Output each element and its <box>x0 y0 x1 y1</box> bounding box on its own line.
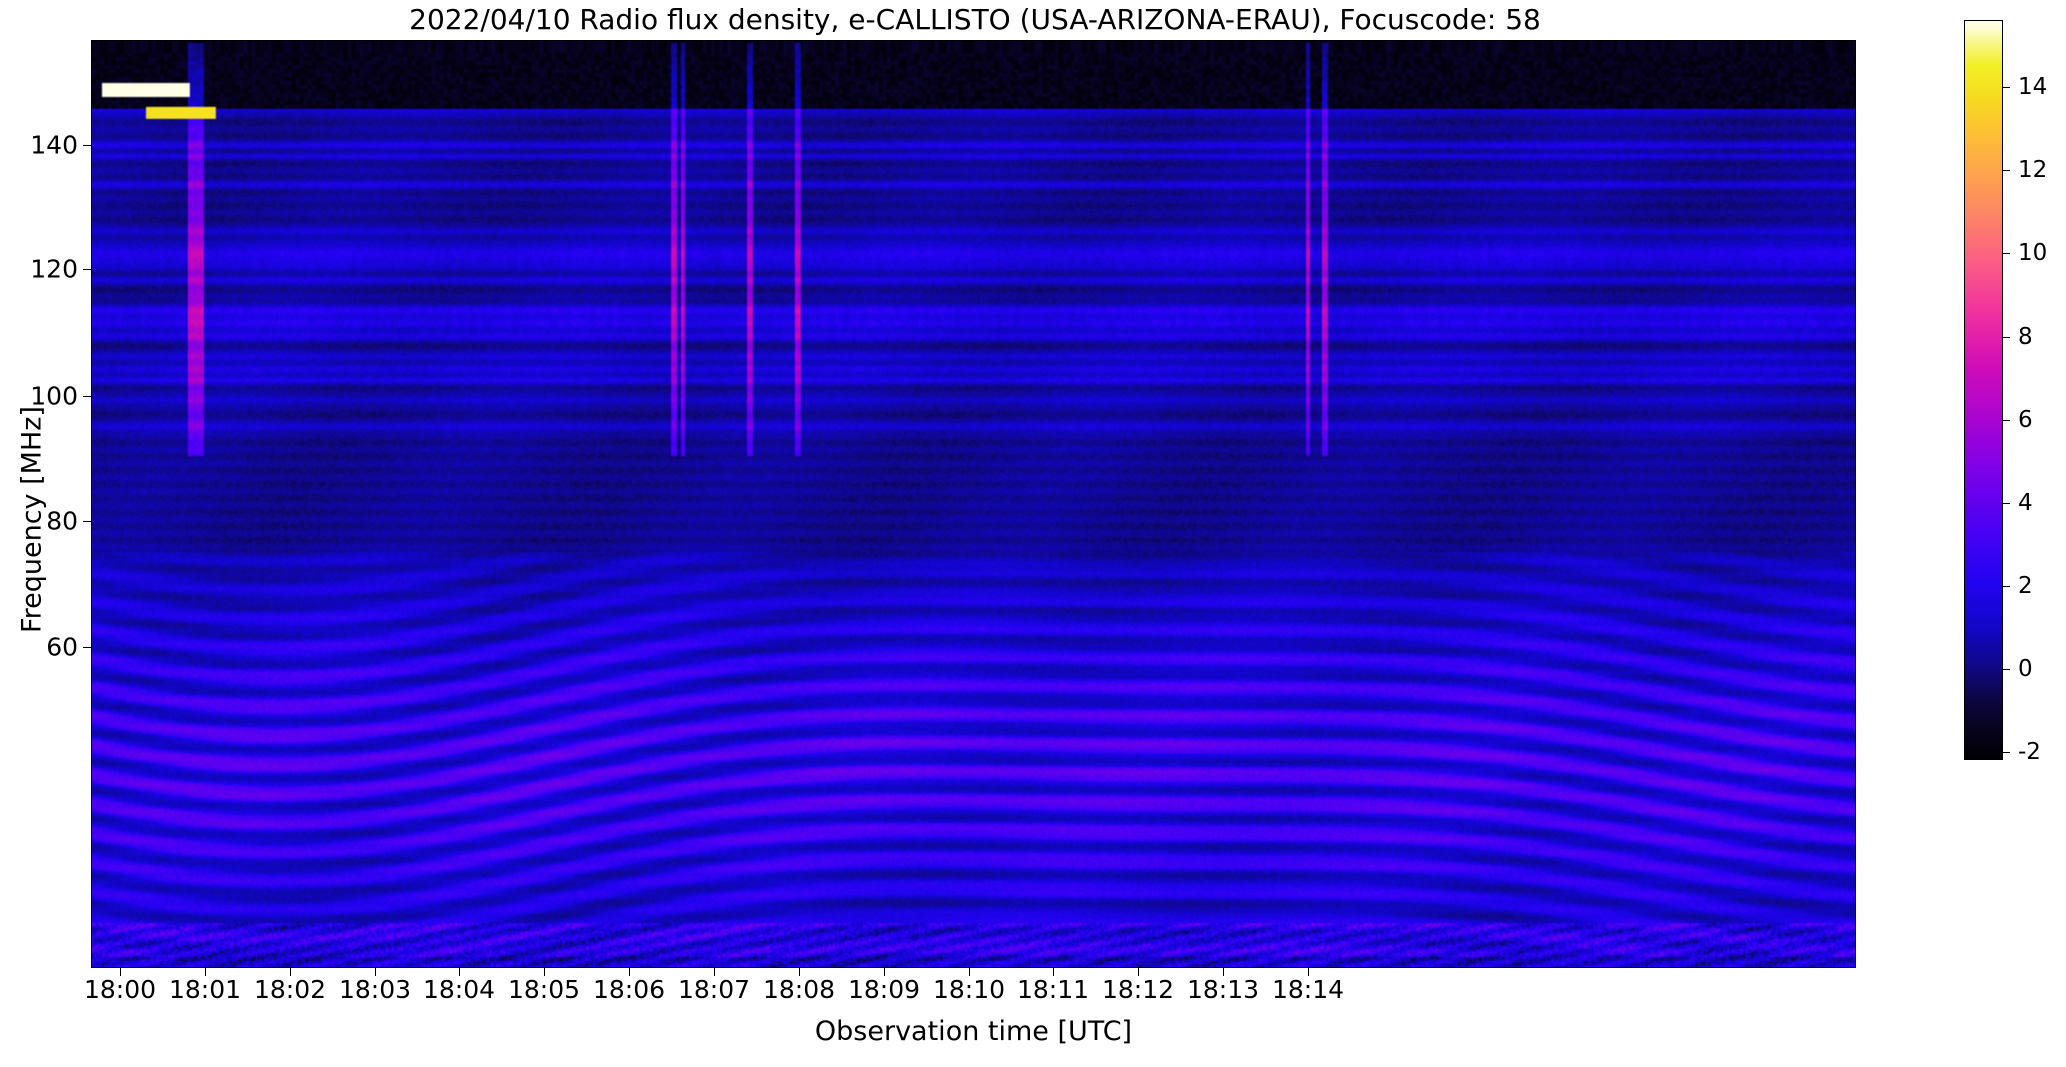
x-tick-label: 18:10 <box>933 975 1005 1004</box>
x-tick-label: 18:03 <box>339 975 411 1004</box>
x-tick-label: 18:05 <box>508 975 580 1004</box>
spectrogram-figure: 2022/04/10 Radio flux density, e-CALLIST… <box>0 0 2066 1067</box>
y-tick-mark <box>83 521 91 522</box>
colorbar-tick-mark <box>2003 253 2010 254</box>
page-title: 2022/04/10 Radio flux density, e-CALLIST… <box>0 3 1950 36</box>
colorbar-tick-label: 4 <box>2018 490 2033 516</box>
x-tick-mark <box>1053 968 1054 976</box>
colorbar-tick-label: -2 <box>2018 739 2041 765</box>
x-tick-label: 18:11 <box>1017 975 1089 1004</box>
x-tick-label: 18:09 <box>848 975 920 1004</box>
x-tick-label: 18:04 <box>423 975 495 1004</box>
colorbar-tick-mark <box>2003 503 2010 504</box>
colorbar-tick-mark <box>2003 752 2010 753</box>
x-tick-mark <box>459 968 460 976</box>
x-tick-mark <box>205 968 206 976</box>
y-tick-mark <box>83 647 91 648</box>
spectrogram-image <box>92 41 1855 967</box>
y-tick-label: 140 <box>20 131 78 160</box>
x-tick-label: 18:02 <box>254 975 326 1004</box>
x-tick-mark <box>799 968 800 976</box>
colorbar-tick-label: 6 <box>2018 407 2033 433</box>
colorbar-tick-mark <box>2003 337 2010 338</box>
x-tick-mark <box>884 968 885 976</box>
x-tick-mark <box>714 968 715 976</box>
y-axis-label: Frequency [MHz] <box>17 370 48 670</box>
colorbar-tick-mark <box>2003 87 2010 88</box>
colorbar-tick-label: 0 <box>2018 656 2033 682</box>
x-tick-mark <box>120 968 121 976</box>
x-tick-label: 18:06 <box>593 975 665 1004</box>
colorbar-tick-label: 2 <box>2018 573 2033 599</box>
x-tick-mark <box>969 968 970 976</box>
y-tick-label: 120 <box>20 255 78 284</box>
x-tick-label: 18:14 <box>1272 975 1344 1004</box>
x-tick-mark <box>1223 968 1224 976</box>
colorbar-tick-label: 10 <box>2018 240 2047 266</box>
x-tick-mark <box>375 968 376 976</box>
colorbar-tick-mark <box>2003 420 2010 421</box>
x-tick-mark <box>629 968 630 976</box>
colorbar-tick-mark <box>2003 586 2010 587</box>
x-tick-mark <box>290 968 291 976</box>
y-tick-mark <box>83 396 91 397</box>
x-tick-label: 18:13 <box>1187 975 1259 1004</box>
y-tick-mark <box>83 269 91 270</box>
y-tick-mark <box>83 145 91 146</box>
x-tick-mark <box>1308 968 1309 976</box>
x-tick-label: 18:12 <box>1102 975 1174 1004</box>
colorbar-tick-mark <box>2003 170 2010 171</box>
colorbar[interactable] <box>1964 20 2003 760</box>
x-tick-label: 18:00 <box>84 975 156 1004</box>
x-tick-mark <box>1138 968 1139 976</box>
x-tick-label: 18:01 <box>169 975 241 1004</box>
x-tick-label: 18:08 <box>763 975 835 1004</box>
colorbar-tick-label: 12 <box>2018 157 2047 183</box>
colorbar-tick-label: 14 <box>2018 74 2047 100</box>
colorbar-tick-mark <box>2003 669 2010 670</box>
x-axis-label: Observation time [UTC] <box>91 1016 1856 1047</box>
colorbar-tick-label: 8 <box>2018 324 2033 350</box>
plot-area[interactable] <box>91 40 1856 968</box>
x-tick-mark <box>544 968 545 976</box>
x-tick-label: 18:07 <box>678 975 750 1004</box>
